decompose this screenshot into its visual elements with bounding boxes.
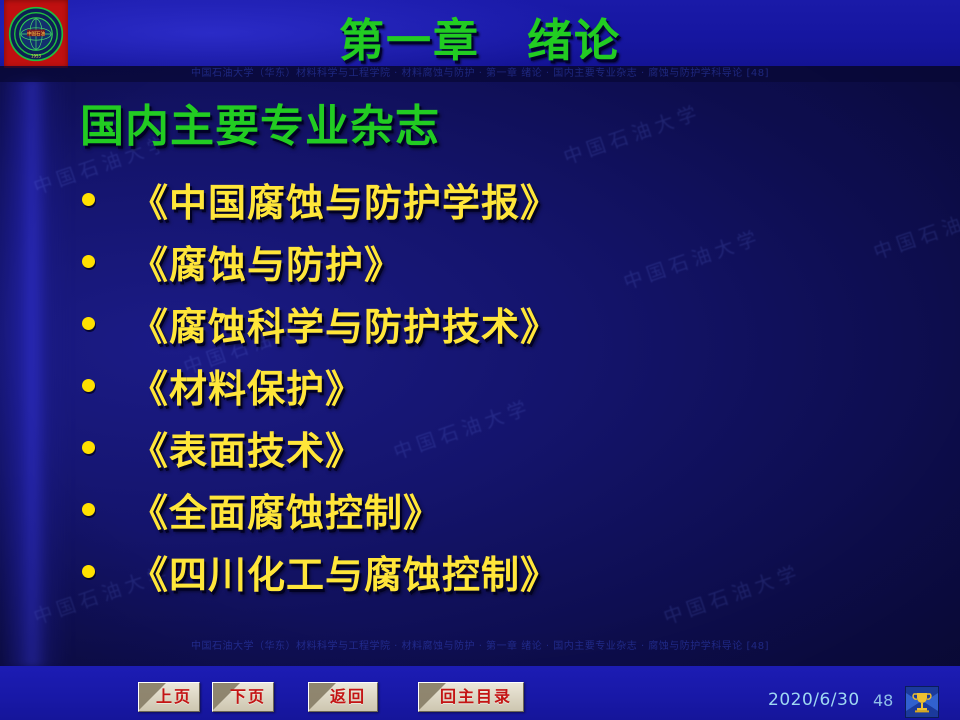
journal-name: 《全面腐蚀控制》 [130, 482, 442, 537]
university-seal-icon: 中国石油 1953 [8, 6, 64, 62]
bullet-dot-icon [82, 255, 95, 268]
bullet-dot-icon [82, 193, 95, 206]
slide-date: 2020/6/30 [768, 690, 860, 710]
svg-text:1953: 1953 [31, 54, 41, 59]
main-menu-label: 回主目录 [419, 683, 523, 711]
list-item: 《全面腐蚀控制》 [0, 478, 960, 540]
journal-name: 《表面技术》 [130, 420, 364, 475]
list-item: 《四川化工与腐蚀控制》 [0, 540, 960, 602]
return-label: 返回 [309, 683, 377, 711]
bullet-dot-icon [82, 379, 95, 392]
list-item: 《表面技术》 [0, 416, 960, 478]
university-logo: 中国石油 1953 [4, 0, 68, 68]
journal-name: 《材料保护》 [130, 358, 364, 413]
main-menu-button[interactable]: 回主目录 [418, 682, 524, 712]
slide-page-number: 48 [873, 691, 893, 710]
journal-name: 《腐蚀与防护》 [130, 234, 403, 289]
journal-name: 《四川化工与腐蚀控制》 [130, 544, 559, 599]
list-item: 《中国腐蚀与防护学报》 [0, 168, 960, 230]
journal-list: 《中国腐蚀与防护学报》 《腐蚀与防护》 《腐蚀科学与防护技术》 《材料保护》 《… [0, 168, 960, 602]
bullet-dot-icon [82, 317, 95, 330]
bullet-dot-icon [82, 565, 95, 578]
bullet-dot-icon [82, 441, 95, 454]
trophy-icon [906, 687, 938, 717]
award-badge [905, 686, 939, 718]
slide-canvas: 中国石油大学 中国石油大学 中国石油大学 中国石油大学 中国石油大学 中国石油大… [0, 0, 960, 720]
next-page-button[interactable]: 下页 [212, 682, 274, 712]
list-item: 《材料保护》 [0, 354, 960, 416]
bullet-dot-icon [82, 503, 95, 516]
section-heading: 国内主要专业杂志 [80, 90, 440, 154]
journal-name: 《腐蚀科学与防护技术》 [130, 296, 559, 351]
prev-page-label: 上页 [139, 683, 199, 711]
list-item: 《腐蚀科学与防护技术》 [0, 292, 960, 354]
next-page-label: 下页 [213, 683, 273, 711]
return-button[interactable]: 返回 [308, 682, 378, 712]
chapter-title: 第一章 绪论 [0, 4, 960, 69]
list-item: 《腐蚀与防护》 [0, 230, 960, 292]
prev-page-button[interactable]: 上页 [138, 682, 200, 712]
journal-name: 《中国腐蚀与防护学报》 [130, 172, 559, 227]
